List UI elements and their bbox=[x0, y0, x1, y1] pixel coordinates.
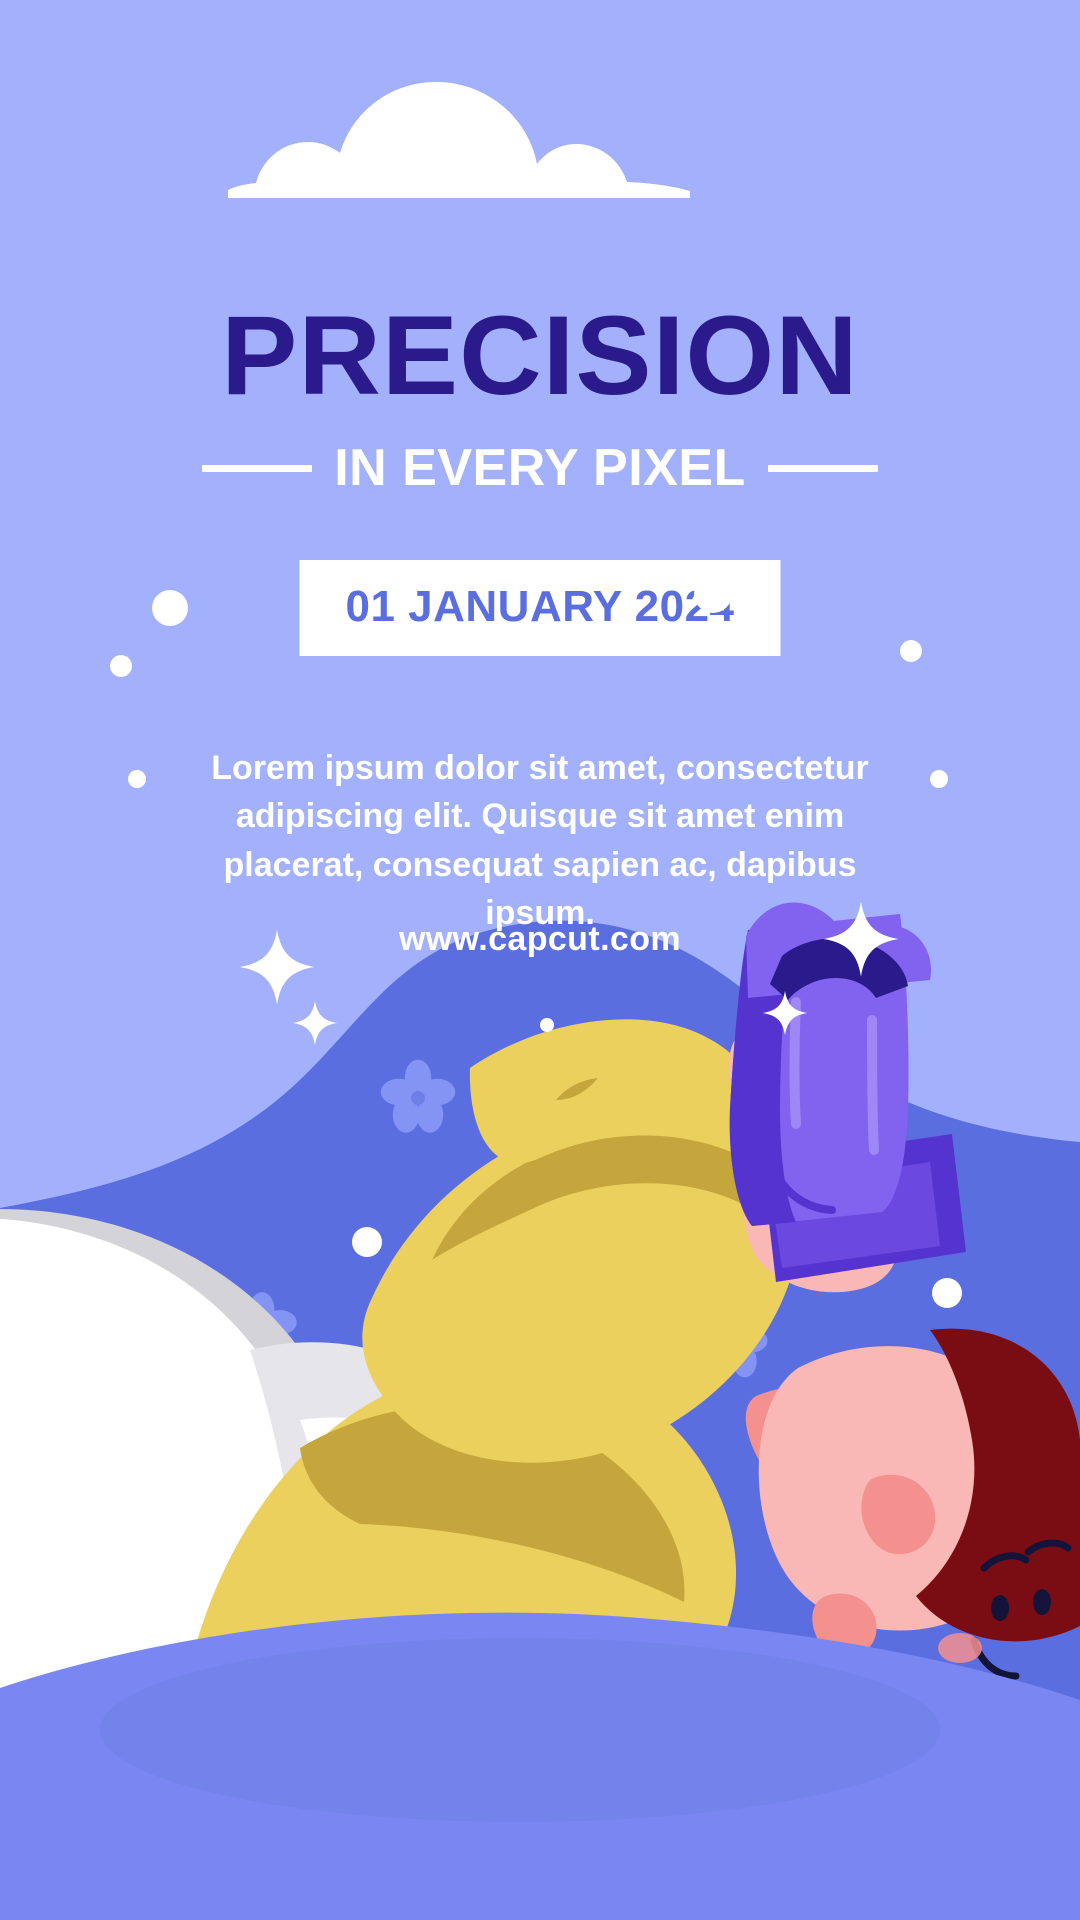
dot-right-mid bbox=[930, 770, 948, 788]
dot-left-mid bbox=[128, 770, 146, 788]
dot-illustration-left bbox=[352, 1227, 382, 1257]
body-paragraph: Lorem ipsum dolor sit amet, consectetur … bbox=[180, 744, 900, 937]
dot-illustration-right bbox=[932, 1278, 962, 1308]
dot-left-upper bbox=[152, 590, 188, 626]
page-title: PRECISION bbox=[0, 300, 1080, 412]
website-url[interactable]: www.capcut.com bbox=[0, 920, 1080, 959]
sparkle-small-right bbox=[762, 990, 808, 1036]
subtitle-rule-right bbox=[768, 465, 878, 472]
sparkle-large-right bbox=[822, 900, 900, 978]
text-content-layer: PRECISION IN EVERY PIXEL 01 JANUARY 2024… bbox=[0, 0, 1080, 1920]
dot-right-upper bbox=[694, 575, 732, 613]
subtitle-row: IN EVERY PIXEL bbox=[0, 438, 1080, 498]
title-block: PRECISION IN EVERY PIXEL bbox=[0, 300, 1080, 498]
dot-center-small bbox=[540, 1018, 554, 1032]
dot-right-lower bbox=[900, 640, 922, 662]
poster-canvas: PRECISION IN EVERY PIXEL 01 JANUARY 2024… bbox=[0, 0, 1080, 1920]
subtitle-rule-left bbox=[202, 465, 312, 472]
sparkle-large-left bbox=[238, 928, 316, 1006]
date-badge-label: 01 JANUARY 2024 bbox=[345, 582, 734, 631]
sparkle-small-left bbox=[292, 1000, 338, 1046]
page-subtitle: IN EVERY PIXEL bbox=[334, 438, 746, 498]
dot-left-lower bbox=[110, 655, 132, 677]
